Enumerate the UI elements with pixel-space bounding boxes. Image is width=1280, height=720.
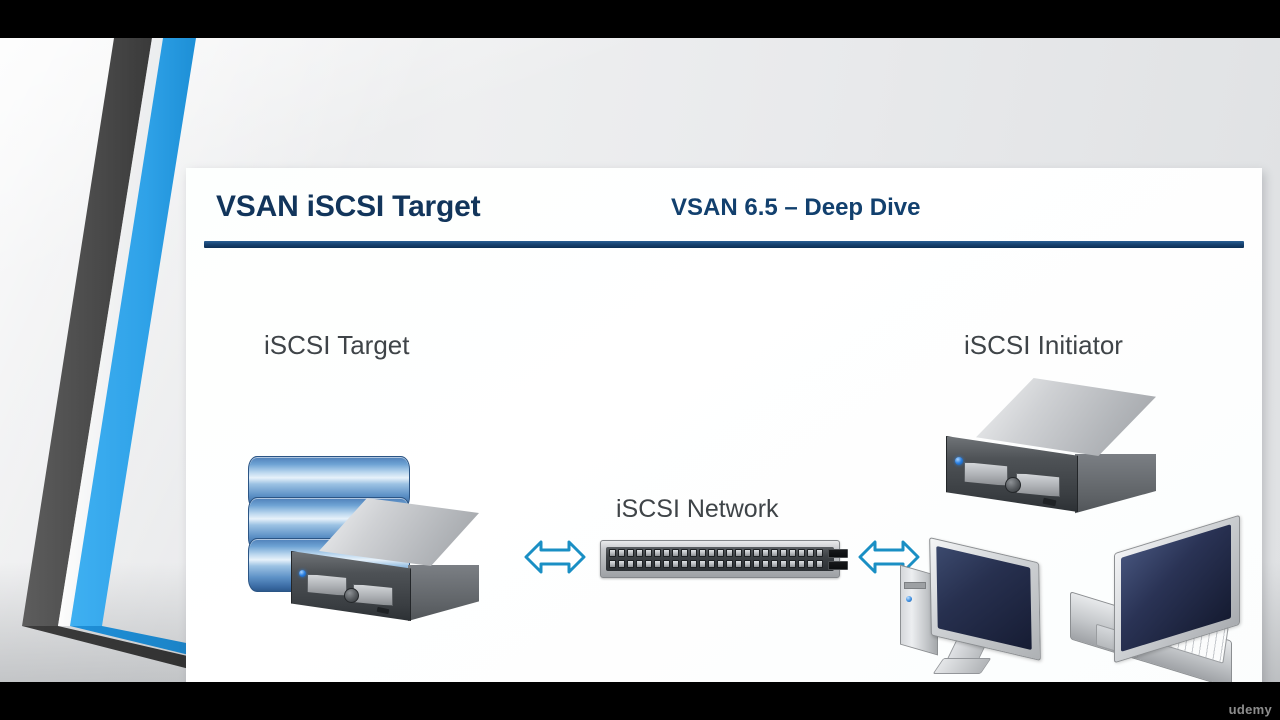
label-iscsi-target: iSCSI Target (264, 330, 409, 361)
switch-uplink-port (828, 549, 848, 558)
bidirectional-arrow-icon (524, 536, 586, 578)
switch-port (609, 560, 616, 568)
switch-port (708, 549, 715, 557)
switch-port (672, 549, 679, 557)
page-title: VSAN iSCSI Target (216, 190, 480, 224)
laptop-icon (1066, 534, 1246, 679)
switch-port (636, 560, 643, 568)
switch-port (663, 560, 670, 568)
desktop-optical-drive (904, 582, 926, 589)
switch-port (789, 560, 796, 568)
switch-port (789, 549, 796, 557)
switch-port (735, 549, 742, 557)
server-knob-icon (1005, 477, 1021, 493)
server-power-led-icon (955, 457, 963, 465)
switch-port (753, 560, 760, 568)
switch-port (762, 560, 769, 568)
switch-port (672, 560, 679, 568)
switch-port (627, 549, 634, 557)
letterbox-top (0, 0, 1280, 38)
switch-port (735, 560, 742, 568)
slide-canvas: VSAN iSCSI Target VSAN 6.5 – Deep Dive i… (0, 38, 1280, 682)
slide-subtitle: VSAN 6.5 – Deep Dive (671, 194, 920, 222)
switch-port (681, 560, 688, 568)
switch-port (618, 560, 625, 568)
server-top-panel (976, 378, 1156, 456)
udemy-watermark: udemy (1229, 702, 1272, 717)
switch-port (798, 549, 805, 557)
switch-port (627, 560, 634, 568)
switch-port (762, 549, 769, 557)
switch-port (654, 549, 661, 557)
server-power-led-icon (299, 570, 306, 577)
switch-port (771, 560, 778, 568)
switch-port (645, 549, 652, 557)
server-side-panel (1075, 454, 1156, 528)
desktop-computer-icon (898, 546, 1058, 681)
switch-uplink-port (828, 561, 848, 570)
server-side-panel (408, 565, 479, 635)
switch-port (807, 560, 814, 568)
network-switch-icon (600, 540, 840, 578)
switch-port (636, 549, 643, 557)
switch-port (690, 549, 697, 557)
server-top-panel (319, 498, 479, 566)
switch-port (690, 560, 697, 568)
switch-port (753, 549, 760, 557)
switch-uplink-group (828, 549, 848, 570)
letterbox-bottom (0, 682, 1280, 720)
switch-port (663, 549, 670, 557)
switch-port-grid (609, 549, 824, 569)
switch-port (816, 560, 823, 568)
switch-port (654, 560, 661, 568)
switch-port (780, 549, 787, 557)
switch-port (609, 549, 616, 557)
switch-port (618, 549, 625, 557)
label-iscsi-initiator: iSCSI Initiator (964, 330, 1123, 361)
switch-port (699, 560, 706, 568)
server-knob-icon (344, 588, 359, 603)
switch-port (771, 549, 778, 557)
label-iscsi-network: iSCSI Network (616, 495, 779, 524)
server-icon (946, 378, 1176, 538)
switch-port (780, 560, 787, 568)
switch-port (708, 560, 715, 568)
switch-port (726, 549, 733, 557)
switch-port (681, 549, 688, 557)
switch-port (744, 549, 751, 557)
video-player: VSAN iSCSI Target VSAN 6.5 – Deep Dive i… (0, 0, 1280, 720)
switch-port (807, 549, 814, 557)
switch-port (699, 549, 706, 557)
switch-port (717, 560, 724, 568)
title-divider (204, 241, 1244, 248)
slide-panel: VSAN iSCSI Target VSAN 6.5 – Deep Dive i… (186, 168, 1262, 682)
switch-port (816, 549, 823, 557)
monitor-stand-base (933, 658, 992, 674)
switch-port (726, 560, 733, 568)
switch-port (645, 560, 652, 568)
switch-port (717, 549, 724, 557)
server-icon (291, 498, 501, 648)
switch-port (744, 560, 751, 568)
desktop-power-led-icon (906, 596, 912, 602)
switch-faceplate (606, 547, 834, 571)
switch-port (798, 560, 805, 568)
slide-title-row: VSAN iSCSI Target VSAN 6.5 – Deep Dive (186, 168, 1262, 248)
